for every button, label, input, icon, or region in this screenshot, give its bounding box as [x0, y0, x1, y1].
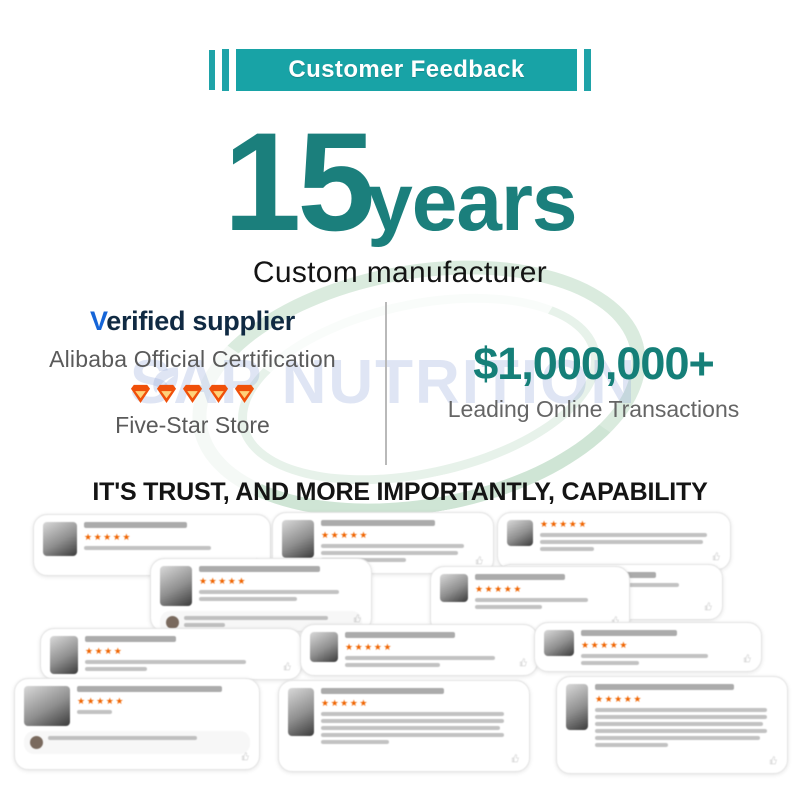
thumbs-up-icon[interactable] [703, 602, 712, 611]
verified-supplier-rest: erified supplier [106, 306, 295, 336]
thumbs-up-icon[interactable] [510, 754, 519, 763]
transactions-block: $1,000,000+ Leading Online Transactions [387, 300, 800, 475]
review-text-line [595, 743, 668, 747]
star-icon: ★ [321, 531, 329, 540]
hero-years-number: 15 [223, 112, 371, 252]
bottle-pair-thumb [566, 684, 588, 730]
thumbs-up-icon[interactable] [768, 756, 777, 765]
star-icon: ★ [550, 520, 558, 529]
review-card[interactable]: ★★★★★ [278, 680, 530, 772]
review-card[interactable]: ★★★★★ [150, 558, 372, 632]
star-icon: ★ [383, 643, 391, 652]
review-card-body: ★★★★★ [199, 566, 362, 604]
star-icon: ★ [610, 641, 618, 650]
review-text-line [475, 598, 588, 602]
transaction-amount: $1,000,000+ [387, 338, 800, 390]
banner-bar: Customer Feedback [236, 49, 576, 91]
pink-pack-thumb [288, 688, 314, 736]
star-icon: ★ [624, 695, 632, 704]
diamond-rating [0, 383, 385, 404]
star-icon: ★ [115, 697, 123, 706]
review-text-line [475, 605, 542, 609]
star-icon: ★ [581, 641, 589, 650]
black-jar-thumb [544, 630, 574, 656]
star-icon: ★ [218, 577, 226, 586]
review-text-line [321, 726, 500, 730]
review-text-line [581, 654, 708, 658]
review-text-line [199, 590, 339, 594]
review-text-line [321, 733, 504, 737]
review-card[interactable]: ★★★★★ [556, 676, 788, 774]
review-text-line [540, 540, 703, 544]
star-icon: ★ [619, 641, 627, 650]
review-title [475, 574, 565, 580]
hero-subtitle: Custom manufacturer [0, 256, 800, 290]
review-text-line [321, 712, 504, 716]
review-card-body: ★★★★★ [595, 684, 778, 750]
five-star-store-label: Five-Star Store [0, 412, 385, 439]
review-text-line [595, 722, 763, 726]
thumbs-up-icon[interactable] [474, 556, 483, 565]
star-icon: ★ [237, 577, 245, 586]
review-text-line [85, 667, 147, 671]
review-card-header: ★★★★★ [566, 684, 778, 750]
star-icon: ★ [559, 520, 567, 529]
review-text-line [345, 656, 495, 660]
star-icon: ★ [475, 585, 483, 594]
jars-group-thumb [24, 686, 70, 726]
review-text-line [595, 736, 760, 740]
review-title [84, 522, 187, 528]
review-text-line [321, 544, 464, 548]
review-card-header: ★★★★★ [160, 566, 362, 606]
thumbs-up-icon[interactable] [742, 654, 751, 663]
star-icon: ★ [122, 533, 130, 542]
review-card[interactable]: ★★★★ [40, 628, 302, 680]
banner-tick-right-1 [584, 49, 591, 91]
review-card[interactable]: ★★★★★ [534, 622, 762, 672]
star-icon: ★ [209, 577, 217, 586]
review-text-line [321, 740, 389, 744]
review-card-header: ★★★★★ [288, 688, 520, 747]
star-icon: ★ [77, 697, 85, 706]
star-icon: ★ [106, 697, 114, 706]
review-title [345, 632, 455, 638]
verified-supplier-block: Verified supplier Alibaba Official Certi… [0, 300, 385, 475]
banner-tick-left-2 [222, 49, 229, 91]
star-icon: ★ [113, 533, 121, 542]
review-card-body: ★★★★ [85, 636, 292, 674]
review-text-line [85, 660, 246, 664]
review-star-rating: ★★★★★ [475, 585, 620, 594]
star-icon: ★ [331, 699, 339, 708]
review-card-body: ★★★★★ [84, 522, 261, 553]
review-title [321, 688, 444, 694]
star-icon: ★ [87, 697, 95, 706]
star-icon: ★ [540, 520, 548, 529]
star-icon: ★ [485, 585, 493, 594]
diamond-icon [181, 383, 204, 404]
supplier-reply-body [48, 736, 244, 749]
star-icon: ★ [85, 647, 93, 656]
review-title [77, 686, 222, 692]
header-banner: Customer Feedback [0, 48, 800, 92]
review-text-line [595, 715, 767, 719]
review-card-header: ★★★★★ [507, 520, 721, 554]
star-icon: ★ [355, 643, 363, 652]
hero-headline: 15 years [0, 112, 800, 252]
supplier-reply [24, 731, 250, 754]
star-icon: ★ [340, 699, 348, 708]
review-text-line [540, 533, 707, 537]
diamond-icon [207, 383, 230, 404]
star-icon: ★ [633, 695, 641, 704]
star-icon: ★ [350, 699, 358, 708]
review-text-line [321, 719, 504, 723]
review-card-header: ★★★★ [50, 636, 292, 674]
review-card-header: ★★★★★ [440, 574, 620, 612]
review-card-header: ★★★★★ [43, 522, 261, 556]
review-title [581, 630, 677, 636]
trust-row: Verified supplier Alibaba Official Certi… [0, 300, 800, 475]
review-text-line [321, 551, 458, 555]
review-star-rating: ★★★★★ [84, 533, 261, 542]
thumbs-up-icon[interactable] [711, 552, 720, 561]
review-title [595, 684, 734, 690]
transaction-amount-label: Leading Online Transactions [387, 396, 800, 423]
review-card-body: ★★★★★ [540, 520, 721, 554]
star-icon: ★ [374, 643, 382, 652]
star-icon: ★ [95, 647, 103, 656]
review-card[interactable]: ★★★★★ [300, 624, 538, 676]
white-bottle-thumb [160, 566, 192, 606]
supplement-bottle-thumb [43, 522, 77, 556]
diamond-icon [129, 383, 152, 404]
verified-check-letter: V [90, 306, 106, 336]
review-card-body: ★★★★★ [321, 688, 520, 747]
thumbs-up-icon[interactable] [240, 752, 249, 761]
star-icon: ★ [199, 577, 207, 586]
star-icon: ★ [104, 647, 112, 656]
review-star-rating: ★★★★★ [77, 697, 250, 706]
review-card-header: ★★★★★ [544, 630, 752, 668]
banner-tick-left-1 [209, 50, 215, 90]
star-icon: ★ [504, 585, 512, 594]
diamond-icon [155, 383, 178, 404]
thumbs-up-icon[interactable] [282, 662, 291, 671]
review-star-rating: ★★★★★ [199, 577, 362, 586]
star-icon: ★ [595, 695, 603, 704]
star-icon: ★ [578, 520, 586, 529]
review-card-header: ★★★★★ [24, 686, 250, 726]
star-icon: ★ [228, 577, 236, 586]
star-icon: ★ [350, 531, 358, 540]
star-icon: ★ [591, 641, 599, 650]
review-text-line [540, 547, 594, 551]
review-card[interactable]: ★★★★★ [14, 678, 260, 770]
hero-block: 15 years Custom manufacturer [0, 112, 800, 290]
avatar-photo-thumb [507, 520, 533, 546]
tagline-text: IT'S TRUST, AND MORE IMPORTANTLY, CAPABI… [0, 478, 800, 507]
review-text-line [48, 736, 197, 740]
review-collage: ★★★★★★★★★★★★★★★★★★★★★★★★★★★★★★★★★★★★★★★★… [0, 506, 800, 800]
star-icon: ★ [340, 531, 348, 540]
review-title [199, 566, 320, 572]
dark-bottle-thumb [282, 520, 314, 558]
star-icon: ★ [321, 699, 329, 708]
review-text-line [595, 708, 767, 712]
star-icon: ★ [96, 697, 104, 706]
review-text-line [345, 663, 440, 667]
star-icon: ★ [569, 520, 577, 529]
star-icon: ★ [600, 641, 608, 650]
star-icon: ★ [513, 585, 521, 594]
customer-feedback-banner: SAP NUTRITION Customer Feedback 15 years… [0, 0, 800, 800]
capsule-jar-thumb [310, 632, 338, 662]
verified-supplier-title: Verified supplier [0, 306, 385, 337]
review-star-rating: ★★★★★ [321, 699, 520, 708]
star-icon: ★ [359, 531, 367, 540]
review-text-line [581, 661, 639, 665]
review-card-body: ★★★★★ [475, 574, 620, 612]
diamond-icon [233, 383, 256, 404]
star-icon: ★ [345, 643, 353, 652]
star-icon: ★ [94, 533, 102, 542]
review-text-line [184, 623, 225, 627]
review-text-line [199, 597, 297, 601]
review-card-body: ★★★★★ [77, 686, 250, 717]
thumbs-up-icon[interactable] [518, 658, 527, 667]
review-card-body: ★★★★★ [581, 630, 752, 668]
review-card[interactable]: ★★★★★ [497, 512, 731, 570]
red-pack-thumb [440, 574, 468, 602]
black-bottle-thumb [50, 636, 78, 674]
review-text-line [595, 729, 767, 733]
review-title [321, 520, 435, 526]
star-icon: ★ [359, 699, 367, 708]
review-card-header: ★★★★★ [310, 632, 528, 670]
thumbs-up-icon[interactable] [352, 614, 361, 623]
review-star-rating: ★★★★★ [581, 641, 752, 650]
star-icon: ★ [494, 585, 502, 594]
star-icon: ★ [605, 695, 613, 704]
review-text-line [77, 710, 112, 714]
banner-title: Customer Feedback [288, 56, 524, 84]
review-title [85, 636, 176, 642]
review-text-line [184, 616, 328, 620]
star-icon: ★ [114, 647, 122, 656]
review-star-rating: ★★★★ [85, 647, 292, 656]
star-icon: ★ [364, 643, 372, 652]
review-text-line [84, 546, 211, 550]
review-star-rating: ★★★★★ [540, 520, 721, 529]
star-icon: ★ [84, 533, 92, 542]
review-star-rating: ★★★★★ [345, 643, 528, 652]
review-card-body: ★★★★★ [345, 632, 528, 670]
avatar [30, 736, 43, 749]
star-icon: ★ [614, 695, 622, 704]
review-star-rating: ★★★★★ [595, 695, 778, 704]
alibaba-certification-label: Alibaba Official Certification [0, 346, 385, 373]
review-star-rating: ★★★★★ [321, 531, 484, 540]
star-icon: ★ [103, 533, 111, 542]
hero-years-unit: years [367, 162, 576, 244]
star-icon: ★ [331, 531, 339, 540]
